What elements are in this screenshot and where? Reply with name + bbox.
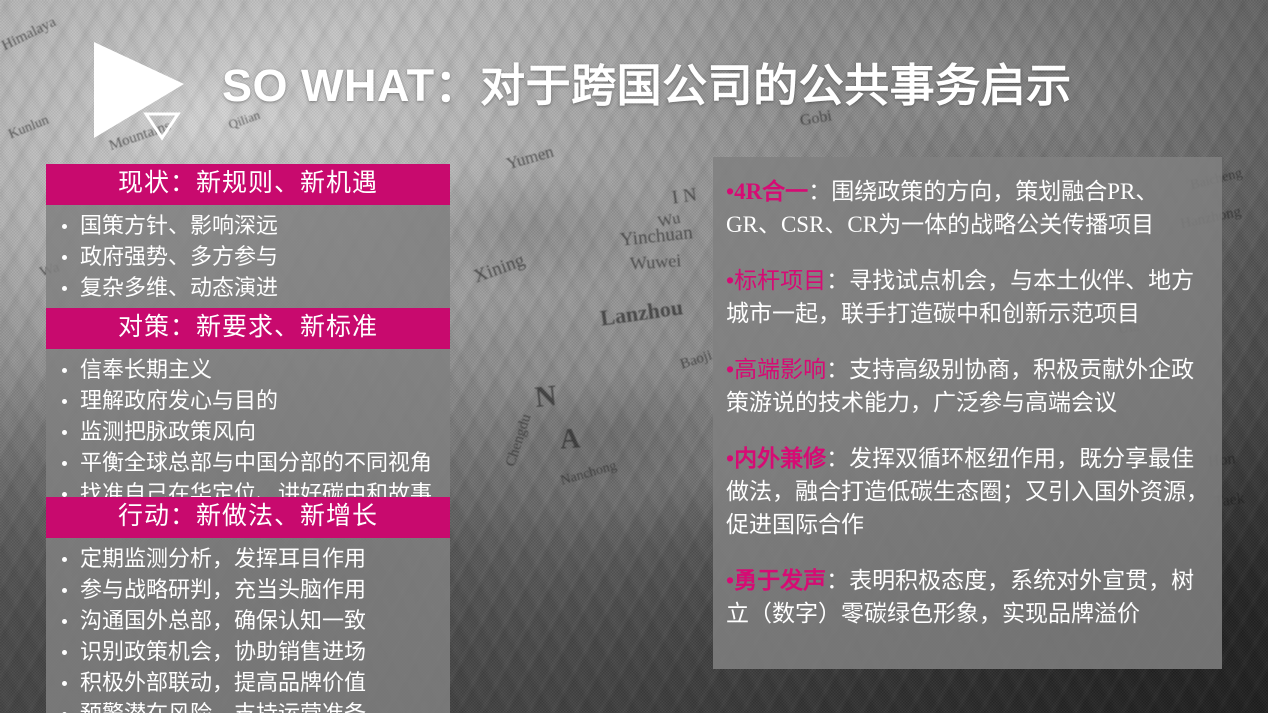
panel-header: 对策：新要求、新标准	[46, 308, 450, 349]
map-place-label: Nanchong	[559, 458, 619, 489]
bullet-dot-icon	[62, 255, 67, 260]
list-item-label: 复杂多维、动态演进	[80, 272, 278, 303]
list-item: 国策方针、影响深远	[46, 210, 450, 241]
recommendation-text: •高端影响：支持高级别协商，积极贡献外企政策游说的技术能力，广泛参与高端会议	[726, 353, 1209, 419]
bullet-dot-icon	[62, 619, 67, 624]
recommendation-text: •4R合一：围绕政策的方向，策划融合PR、GR、CSR、CR为一体的战略公关传播…	[726, 175, 1209, 241]
bullet-marker-icon: •	[726, 178, 734, 204]
map-place-label: Yinchuan	[619, 222, 694, 251]
panel-actions: 行动：新做法、新增长 定期监测分析，发挥耳目作用参与战略研判，充当头脑作用沟通国…	[46, 497, 450, 713]
map-place-label: A	[559, 423, 581, 456]
title-bar: SO WHAT：对于跨国公司的公共事务启示	[0, 34, 1268, 144]
list-item-label: 定期监测分析，发挥耳目作用	[80, 543, 366, 574]
list-item-label: 沟通国外总部，确保认知一致	[80, 605, 366, 636]
map-place-label: Lanzhou	[599, 294, 685, 331]
bullet-dot-icon	[62, 461, 67, 466]
list-item-label: 信奉长期主义	[80, 354, 212, 385]
map-place-label: Wuwei	[629, 250, 682, 275]
list-item-label: 参与战略研判，充当头脑作用	[80, 574, 366, 605]
list-item: 政府强势、多方参与	[46, 241, 450, 272]
panel-current-situation: 现状：新规则、新机遇 国策方针、影响深远政府强势、多方参与复杂多维、动态演进	[46, 164, 450, 312]
list-item-label: 国策方针、影响深远	[80, 210, 278, 241]
recommendation-text: •勇于发声：表明积极态度，系统对外宣贯，树立（数字）零碳绿色形象，实现品牌溢价	[726, 564, 1209, 630]
map-place-label: Wu	[656, 210, 682, 232]
recommendation-colon: ：	[826, 357, 849, 382]
map-place-label: Chengdu	[503, 412, 536, 469]
map-place-label: I N	[671, 184, 699, 209]
list-item: 平衡全球总部与中国分部的不同视角	[46, 447, 450, 478]
bullet-dot-icon	[62, 286, 67, 291]
recommendation-text: •内外兼修：发挥双循环枢纽作用，既分享最佳做法，融合打造低碳生态圈；又引入国外资…	[726, 442, 1209, 541]
recommendation-label: 内外兼修	[734, 446, 826, 471]
map-place-label: Xining	[471, 250, 528, 289]
panel-countermeasures: 对策：新要求、新标准 信奉长期主义理解政府发心与目的监测把脉政策风向平衡全球总部…	[46, 308, 450, 518]
bullet-marker-icon: •	[726, 445, 734, 471]
list-item: 预警潜在风险，支持运营准备	[46, 698, 450, 713]
bullet-dot-icon	[62, 588, 67, 593]
list-item-label: 平衡全球总部与中国分部的不同视角	[80, 447, 432, 478]
bullet-dot-icon	[62, 650, 67, 655]
panel-recommendations: •4R合一：围绕政策的方向，策划融合PR、GR、CSR、CR为一体的战略公关传播…	[713, 157, 1222, 669]
list-item: 监测把脉政策风向	[46, 416, 450, 447]
page-title: SO WHAT：对于跨国公司的公共事务启示	[222, 56, 1072, 116]
bullet-dot-icon	[62, 224, 67, 229]
recommendation-item: •勇于发声：表明积极态度，系统对外宣贯，树立（数字）零碳绿色形象，实现品牌溢价	[726, 564, 1209, 630]
recommendation-item: •内外兼修：发挥双循环枢纽作用，既分享最佳做法，融合打造低碳生态圈；又引入国外资…	[726, 442, 1209, 541]
list-item: 复杂多维、动态演进	[46, 272, 450, 303]
list-item: 定期监测分析，发挥耳目作用	[46, 543, 450, 574]
recommendation-colon: ：	[826, 568, 849, 593]
list-item-label: 监测把脉政策风向	[80, 416, 256, 447]
recommendation-colon: ：	[808, 179, 831, 204]
bullet-dot-icon	[62, 368, 67, 373]
recommendation-label: 4R合一	[734, 179, 808, 204]
presentation-slide: HimalayaKunlunQilianMountainsYumenI NWuY…	[0, 0, 1268, 713]
map-place-label: Baoji	[678, 347, 714, 373]
list-item: 理解政府发心与目的	[46, 385, 450, 416]
list-item: 信奉长期主义	[46, 354, 450, 385]
list-item: 沟通国外总部，确保认知一致	[46, 605, 450, 636]
panel-header: 现状：新规则、新机遇	[46, 164, 450, 205]
recommendation-colon: ：	[826, 268, 849, 293]
list-item: 积极外部联动，提高品牌价值	[46, 667, 450, 698]
list-item: 参与战略研判，充当头脑作用	[46, 574, 450, 605]
bullet-dot-icon	[62, 430, 67, 435]
bullet-dot-icon	[62, 681, 67, 686]
map-place-label: N	[533, 379, 558, 415]
list-item: 识别政策机会，协助销售进场	[46, 636, 450, 667]
recommendation-colon: ：	[826, 446, 849, 471]
list-item-label: 预警潜在风险，支持运营准备	[80, 698, 366, 713]
recommendation-label: 高端影响	[734, 357, 826, 382]
panel-header: 行动：新做法、新增长	[46, 497, 450, 538]
list-item-label: 积极外部联动，提高品牌价值	[80, 667, 366, 698]
list-item-label: 政府强势、多方参与	[80, 241, 278, 272]
bullet-dot-icon	[62, 399, 67, 404]
panel-body: 国策方针、影响深远政府强势、多方参与复杂多维、动态演进	[46, 205, 450, 312]
bullet-marker-icon: •	[726, 267, 734, 293]
recommendation-label: 勇于发声	[734, 568, 826, 593]
recommendation-label: 标杆项目	[734, 268, 826, 293]
map-place-label: Yumen	[504, 142, 556, 175]
panel-body: 定期监测分析，发挥耳目作用参与战略研判，充当头脑作用沟通国外总部，确保认知一致识…	[46, 538, 450, 713]
bullet-marker-icon: •	[726, 356, 734, 382]
list-item-label: 识别政策机会，协助销售进场	[80, 636, 366, 667]
recommendation-item: •标杆项目：寻找试点机会，与本土伙伴、地方城市一起，联手打造碳中和创新示范项目	[726, 264, 1209, 330]
list-item-label: 理解政府发心与目的	[80, 385, 278, 416]
bullet-dot-icon	[62, 557, 67, 562]
recommendation-text: •标杆项目：寻找试点机会，与本土伙伴、地方城市一起，联手打造碳中和创新示范项目	[726, 264, 1209, 330]
play-triangle-logo-icon	[88, 40, 196, 144]
recommendation-item: •高端影响：支持高级别协商，积极贡献外企政策游说的技术能力，广泛参与高端会议	[726, 353, 1209, 419]
panel-body: 信奉长期主义理解政府发心与目的监测把脉政策风向平衡全球总部与中国分部的不同视角找…	[46, 349, 450, 518]
bullet-marker-icon: •	[726, 567, 734, 593]
recommendation-item: •4R合一：围绕政策的方向，策划融合PR、GR、CSR、CR为一体的战略公关传播…	[726, 175, 1209, 241]
